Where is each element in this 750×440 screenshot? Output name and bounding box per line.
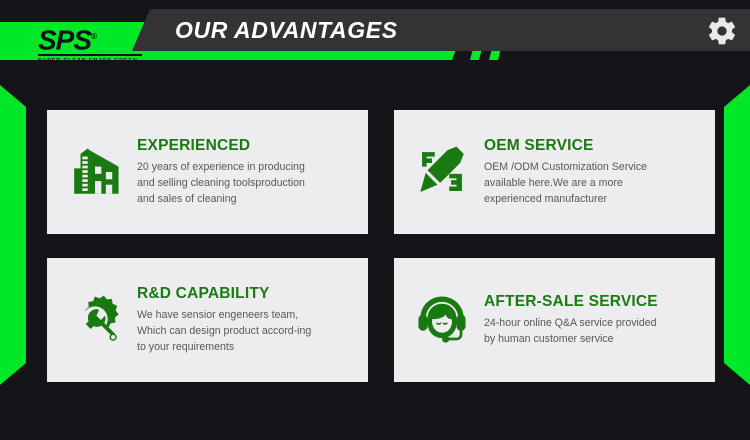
card-title: EXPERIENCED <box>137 137 354 154</box>
card-desc-line: 24-hour online Q&A service provided <box>484 315 701 331</box>
card-body: AFTER-SALE SERVICE 24-hour online Q&A se… <box>484 293 701 347</box>
registered-mark: ® <box>91 32 96 41</box>
card-desc-line: to your requirements <box>137 339 354 355</box>
card-desc-line: We have sensior engeneers team, <box>137 307 354 323</box>
left-accent-bar <box>0 85 26 385</box>
card-description: We have sensior engeneers team, Which ca… <box>137 307 354 355</box>
gear-icon <box>706 15 738 47</box>
right-accent-bar <box>724 85 750 385</box>
advantage-card-grid: EXPERIENCED 20 years of experience in pr… <box>47 110 715 382</box>
card-title: AFTER-SALE SERVICE <box>484 293 701 310</box>
card-desc-line: and sales of cleaning <box>137 191 354 207</box>
advantage-card-rd-capability[interactable]: R&D CAPABILITY We have sensior engeneers… <box>47 258 368 382</box>
card-desc-line: OEM /ODM Customization Service <box>484 159 701 175</box>
advantage-card-oem-service[interactable]: OEM SERVICE OEM /ODM Customization Servi… <box>394 110 715 234</box>
pencil-icon <box>410 140 474 204</box>
brand-logo: SPS® SUPER CLEAN ENJOY GREEN <box>38 24 148 60</box>
logo-tagline: SUPER CLEAN ENJOY GREEN <box>38 58 148 64</box>
logo-wordmark: SPS® <box>38 24 148 53</box>
card-title: OEM SERVICE <box>484 137 701 154</box>
building-icon <box>63 140 127 204</box>
card-desc-line: available here.We are a more <box>484 175 701 191</box>
advantage-card-after-sale-service[interactable]: AFTER-SALE SERVICE 24-hour online Q&A se… <box>394 258 715 382</box>
advantage-card-experienced[interactable]: EXPERIENCED 20 years of experience in pr… <box>47 110 368 234</box>
settings-button[interactable] <box>706 15 738 47</box>
card-body: EXPERIENCED 20 years of experience in pr… <box>137 137 354 207</box>
headset-support-icon <box>410 288 474 352</box>
gear-wrench-icon <box>63 288 127 352</box>
page-title: OUR ADVANTAGES <box>175 17 398 44</box>
card-body: R&D CAPABILITY We have sensior engeneers… <box>137 285 354 355</box>
logo-text: SPS <box>38 24 91 55</box>
card-desc-line: experienced manufacturer <box>484 191 701 207</box>
card-title: R&D CAPABILITY <box>137 285 354 302</box>
header: OUR ADVANTAGES SPS® SUPER CLEAN ENJOY GR… <box>0 0 750 72</box>
advantages-banner: OUR ADVANTAGES SPS® SUPER CLEAN ENJOY GR… <box>0 0 750 440</box>
card-body: OEM SERVICE OEM /ODM Customization Servi… <box>484 137 701 207</box>
card-desc-line: and selling cleaning toolsproduction <box>137 175 354 191</box>
card-desc-line: 20 years of experience in producing <box>137 159 354 175</box>
card-description: 24-hour online Q&A service provided by h… <box>484 315 701 347</box>
card-desc-line: Which can design product accord-ing <box>137 323 354 339</box>
card-description: OEM /ODM Customization Service available… <box>484 159 701 207</box>
card-description: 20 years of experience in producing and … <box>137 159 354 207</box>
card-desc-line: by human customer service <box>484 331 701 347</box>
